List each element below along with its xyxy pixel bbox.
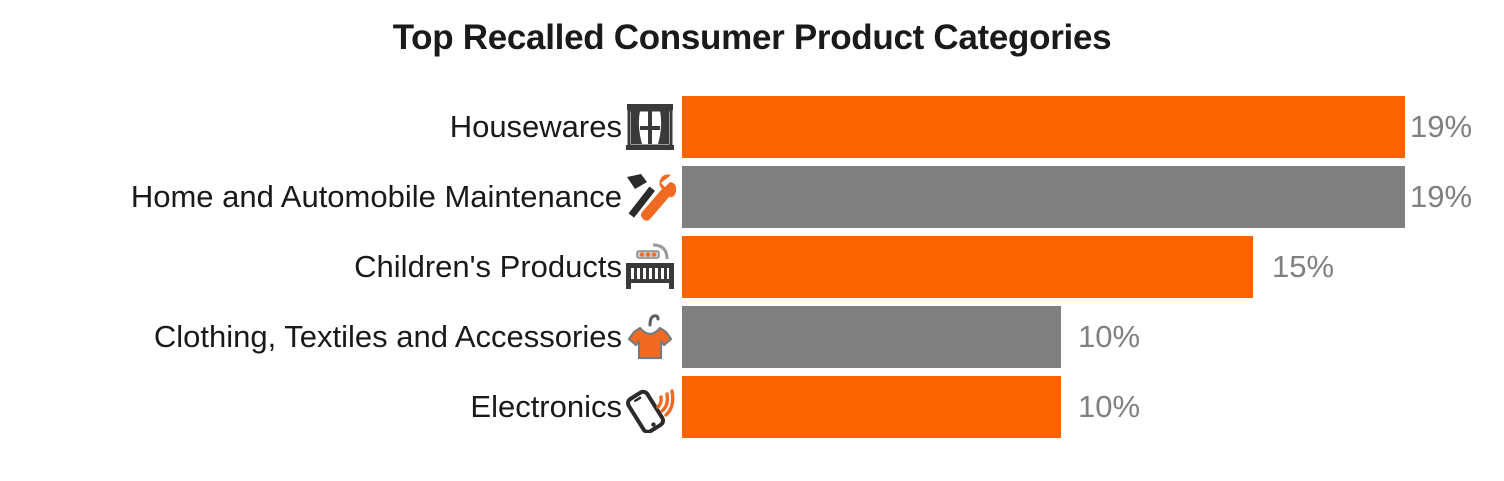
bar-value-clothing-textiles-accessories: 10% bbox=[1078, 319, 1140, 355]
bar-row: Clothing, Textiles and Accessories 10% bbox=[0, 302, 1504, 372]
bar-housewares bbox=[682, 96, 1405, 158]
bar-childrens-products bbox=[682, 236, 1253, 298]
bar-row: Electronics 10% bbox=[0, 372, 1504, 442]
category-label-electronics: Electronics bbox=[470, 389, 622, 425]
bar-clothing-textiles-accessories bbox=[682, 306, 1061, 368]
bar-row: Children's Products bbox=[0, 232, 1504, 302]
category-label-clothing-textiles-accessories: Clothing, Textiles and Accessories bbox=[154, 319, 622, 355]
bar-home-automobile-maintenance bbox=[682, 166, 1405, 228]
bar-row: Housewares 19% bbox=[0, 92, 1504, 162]
bar-value-home-automobile-maintenance: 19% bbox=[1410, 179, 1472, 215]
category-label-childrens-products: Children's Products bbox=[354, 249, 622, 285]
category-label-housewares: Housewares bbox=[450, 109, 622, 145]
bar-value-electronics: 10% bbox=[1078, 389, 1140, 425]
category-label-home-automobile-maintenance: Home and Automobile Maintenance bbox=[131, 179, 622, 215]
baby-crib-icon bbox=[620, 238, 680, 296]
bar-electronics bbox=[682, 376, 1061, 438]
bar-value-housewares: 19% bbox=[1410, 109, 1472, 145]
window-curtains-icon bbox=[620, 98, 680, 156]
bar-chart: Top Recalled Consumer Product Categories… bbox=[0, 0, 1504, 481]
smartphone-signal-icon bbox=[620, 378, 680, 436]
plot-area: Housewares 19% Home and Automobile Maint… bbox=[0, 92, 1504, 452]
chart-title: Top Recalled Consumer Product Categories bbox=[0, 18, 1504, 58]
hammer-wrench-icon bbox=[620, 168, 680, 226]
bar-value-childrens-products: 15% bbox=[1272, 249, 1334, 285]
bar-row: Home and Automobile Maintenance 19% bbox=[0, 162, 1504, 232]
tshirt-hanger-icon bbox=[620, 308, 680, 366]
